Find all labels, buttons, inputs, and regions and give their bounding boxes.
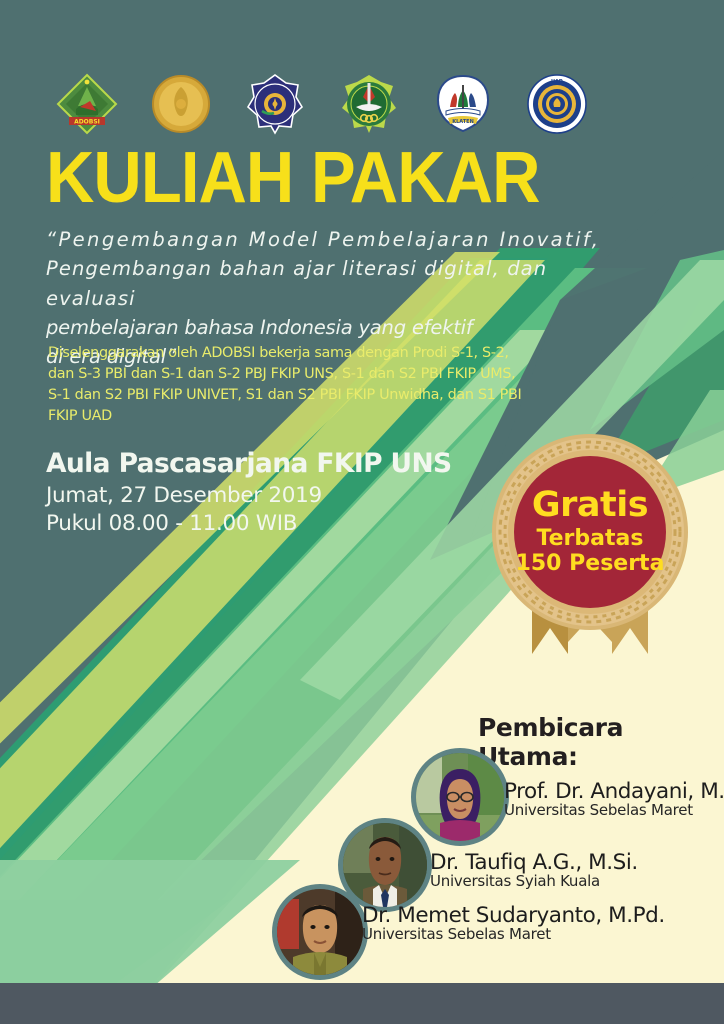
speakers-heading: Pembicara Utama: [478,713,724,771]
speaker-avatar-memet [272,884,368,980]
organizer-text: Diselenggarakan oleh ADOBSI bekerja sama… [48,343,568,427]
organizer-line-2: dan S-3 PBI dan S-1 dan S-2 PBJ FKIP UNS… [48,364,568,385]
speaker-affiliation-2: Universitas Syiah Kuala [430,872,600,890]
organizer-line-1: Diselenggarakan oleh ADOBSI bekerja sama… [48,343,568,364]
event-time: Pukul 08.00 - 11.00 WIB [46,510,452,538]
univet-logo [338,73,400,135]
ums-logo [244,73,306,135]
seal-face [514,456,666,608]
uad-logo: UAD [526,73,588,135]
unwidha-logo: KLATEN [432,73,494,135]
speaker-affiliation-1: Universitas Sebelas Maret [504,801,693,819]
adobsi-logo: ADOBSI [56,73,118,135]
svg-text:ADOBSI: ADOBSI [74,119,100,126]
organizer-line-3: S-1 dan S2 PBI FKIP UNIVET, S1 dan S2 PB… [48,385,568,406]
gratis-seal-badge: Gratis Terbatas 150 Peserta [490,432,690,662]
partner-logos-row: ADOBSI [0,68,724,140]
quote-line-3: pembelajaran bahasa Indonesia yang efekt… [46,313,632,342]
poster-title: KULIAH PAKAR [46,142,539,214]
svg-text:UAD: UAD [551,79,563,85]
poster-canvas: ADOBSI [0,0,724,1024]
footer-band [0,983,724,1024]
speaker-affiliation-3: Universitas Sebelas Maret [362,925,551,943]
quote-line-2: Pengembangan bahan ajar literasi digital… [46,254,632,313]
organizer-line-4: FKIP UAD [48,406,568,427]
event-details: Aula Pascasarjana FKIP UNS Jumat, 27 Des… [46,448,452,538]
event-date: Jumat, 27 Desember 2019 [46,482,452,510]
event-venue: Aula Pascasarjana FKIP UNS [46,448,452,479]
gold-seal-logo [150,73,212,135]
svg-text:KLATEN: KLATEN [452,119,474,125]
quote-line-1: “Pengembangan Model Pembelajaran Inovati… [46,225,632,254]
